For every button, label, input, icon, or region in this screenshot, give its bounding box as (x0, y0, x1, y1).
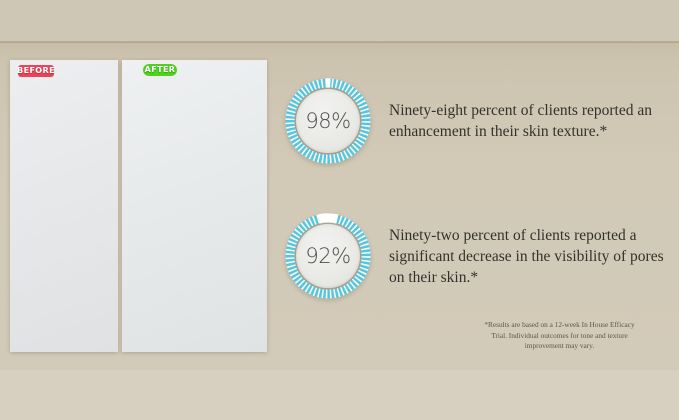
footnote-line-3: improvement may vary. (452, 341, 667, 352)
gauge-hub-92: 92% (296, 224, 360, 288)
background-band-bottom (0, 370, 679, 420)
after-photo-backdrop (122, 60, 267, 352)
before-photo-panel (10, 60, 118, 352)
gauge-92: 92% (283, 211, 373, 301)
badge-after: AFTER (143, 64, 177, 76)
badge-before: BEFORE (18, 65, 54, 77)
stat-caption-texture: Ninety-eight percent of clients reported… (389, 100, 657, 142)
stat-row-pores: 92% Ninety-two percent of clients report… (283, 211, 664, 301)
footnote-disclaimer: *Results are based on a 12-week In House… (452, 320, 667, 352)
before-photo-backdrop (10, 60, 118, 352)
promo-graphic: BEFORE (0, 0, 679, 420)
footnote-line-2: Trial. Individual outcomes for tone and … (452, 331, 667, 342)
after-photo-panel (122, 60, 267, 352)
gauge-value-92: 92% (305, 246, 350, 267)
gauge-98: 98% (283, 76, 373, 166)
background-band-top (0, 0, 679, 42)
gauge-value-98: 98% (305, 111, 350, 132)
footnote-line-1: *Results are based on a 12-week In House… (452, 320, 667, 331)
stat-caption-pores: Ninety-two percent of clients reported a… (389, 225, 664, 288)
background-seam-line (0, 41, 679, 43)
stat-row-texture: 98% Ninety-eight percent of clients repo… (283, 76, 657, 166)
gauge-hub-98: 98% (296, 89, 360, 153)
